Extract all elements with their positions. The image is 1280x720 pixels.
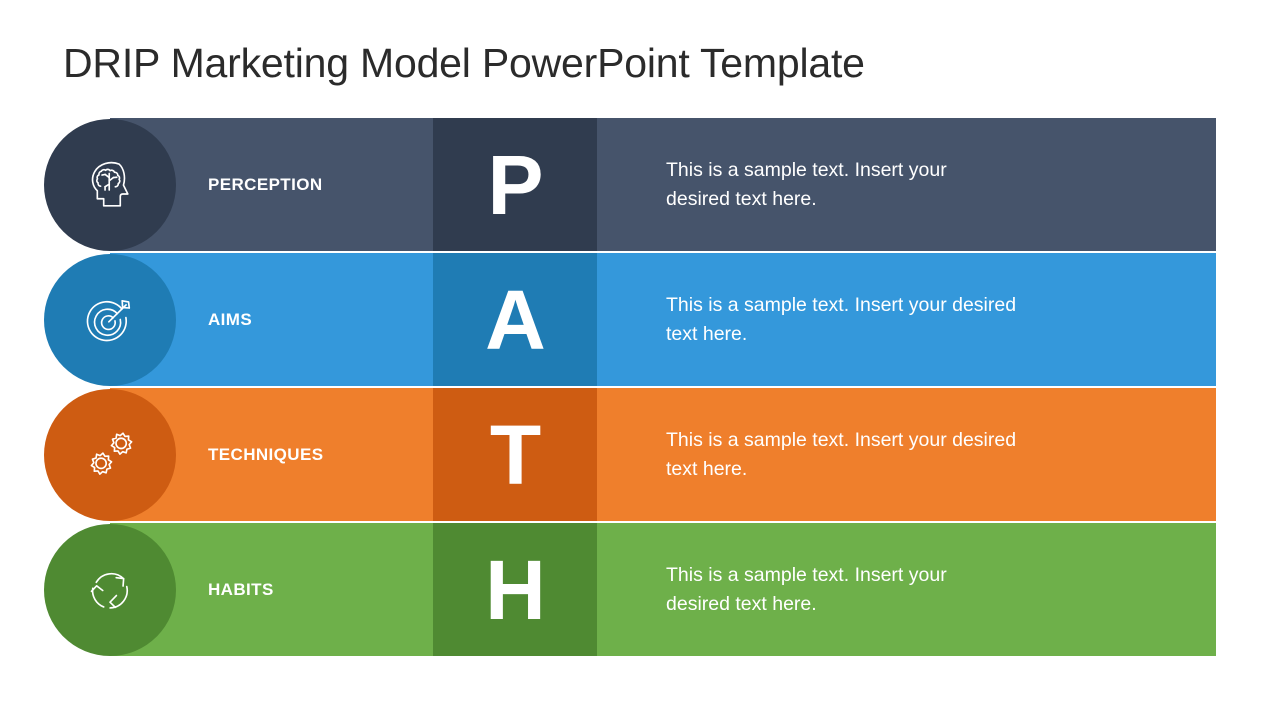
row-letter: H [485,548,545,632]
row-icon-circle [44,254,176,386]
cycle-arrows-icon [79,559,141,621]
row-letter: P [487,143,542,227]
row-icon-circle [44,119,176,251]
row-letter-block: A [433,253,597,386]
list-item[interactable]: AIMS A This is a sample text. Insert you… [44,253,1216,386]
row-letter: T [490,413,540,497]
brain-head-icon [79,154,141,216]
row-body-text: This is a sample text. Insert your desir… [597,561,996,619]
slide: DRIP Marketing Model PowerPoint Template [0,0,1280,720]
row-body-text: This is a sample text. Insert your desir… [597,426,1051,484]
row-body-area: This is a sample text. Insert your desir… [597,388,1216,521]
row-label: PERCEPTION [208,118,323,251]
row-letter-block: P [433,118,597,251]
list-item[interactable]: TECHNIQUES T This is a sample text. Inse… [44,388,1216,521]
row-body-area: This is a sample text. Insert your desir… [597,523,1216,656]
row-label: HABITS [208,523,274,656]
row-label: AIMS [208,253,252,386]
target-arrow-icon [79,289,141,351]
list-item[interactable]: HABITS H This is a sample text. Insert y… [44,523,1216,656]
row-body-text: This is a sample text. Insert your desir… [597,156,996,214]
path-rows-list: PERCEPTION P This is a sample text. Inse… [44,118,1216,658]
row-body-area: This is a sample text. Insert your desir… [597,118,1216,251]
row-letter-block: T [433,388,597,521]
row-letter-block: H [433,523,597,656]
row-label: TECHNIQUES [208,388,323,521]
row-icon-circle [44,389,176,521]
row-letter: A [485,278,545,362]
row-body-area: This is a sample text. Insert your desir… [597,253,1216,386]
page-title: DRIP Marketing Model PowerPoint Template [63,40,865,87]
row-icon-circle [44,524,176,656]
gears-icon [79,424,141,486]
list-item[interactable]: PERCEPTION P This is a sample text. Inse… [44,118,1216,251]
row-body-text: This is a sample text. Insert your desir… [597,291,1051,349]
